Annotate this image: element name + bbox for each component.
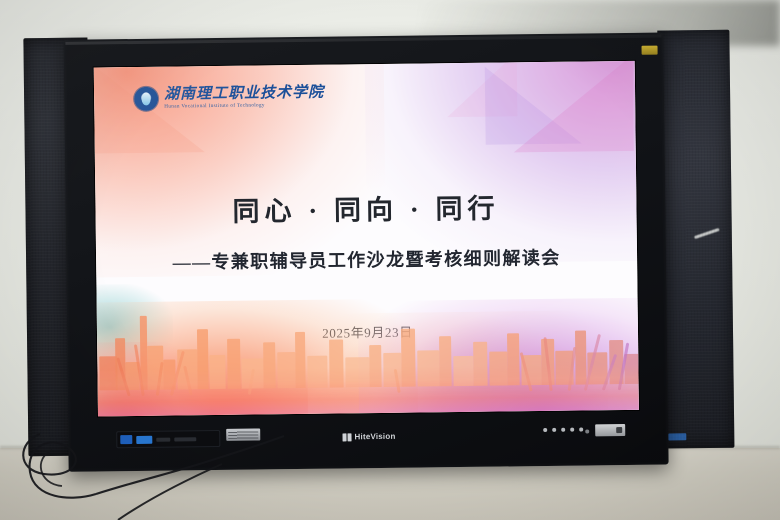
corner-sticker	[642, 46, 658, 55]
volume-up-button[interactable]	[579, 428, 583, 432]
port-panel[interactable]	[116, 430, 220, 448]
polygon-shape-a	[513, 61, 634, 152]
menu-button[interactable]	[552, 428, 556, 432]
university-name-en: Hunan Vocational Institute of Technology	[164, 103, 324, 110]
vga-slot-icon[interactable]	[174, 437, 196, 441]
university-name-cn: 湖南理工职业技术学院	[164, 85, 324, 102]
highlight-speck	[694, 228, 720, 239]
slide-title-sub: ——专兼职辅导员工作沙龙暨考核细则解读会	[96, 243, 637, 276]
usb-port-1-icon[interactable]	[120, 435, 132, 444]
right-speaker-panel	[657, 30, 734, 449]
university-name-block: 湖南理工职业技术学院 Hunan Vocational Institute of…	[164, 85, 324, 110]
spec-label-plate	[226, 428, 260, 440]
brand-name: HiteVision	[354, 432, 395, 442]
power-button[interactable]	[543, 428, 547, 432]
hdmi-slot-icon[interactable]	[156, 437, 170, 441]
display-screen[interactable]: 湖南理工职业技术学院 Hunan Vocational Institute of…	[94, 61, 639, 417]
skyline-buildings	[97, 292, 639, 417]
volume-down-button[interactable]	[570, 428, 574, 432]
slide-title-main: 同心 · 同向 · 同行	[95, 185, 636, 231]
watercolor-city-skyline	[96, 280, 639, 417]
university-logo: 湖南理工职业技术学院 Hunan Vocational Institute of…	[134, 85, 324, 111]
side-label-tag	[668, 433, 686, 440]
skyline-base-wash	[97, 364, 639, 417]
hitevision-logo-icon	[342, 433, 352, 441]
room-scene: 湖南理工职业技术学院 Hunan Vocational Institute of…	[0, 0, 780, 520]
ir-receiver-window	[595, 424, 625, 436]
university-crest-icon	[134, 87, 158, 111]
usb-port-2-icon[interactable]	[136, 435, 152, 443]
bottom-bezel: HiteVision	[98, 421, 639, 462]
brand-logo: HiteVision	[342, 432, 396, 442]
display-bezel: 湖南理工职业技术学院 Hunan Vocational Institute of…	[63, 33, 668, 472]
control-button-row[interactable]	[543, 428, 583, 432]
presentation-slide: 湖南理工职业技术学院 Hunan Vocational Institute of…	[94, 61, 639, 417]
source-button[interactable]	[561, 428, 565, 432]
bezel-highlight	[65, 35, 661, 45]
power-led-indicator	[585, 429, 589, 433]
interactive-flat-panel-display[interactable]: 湖南理工职业技术学院 Hunan Vocational Institute of…	[23, 30, 734, 473]
